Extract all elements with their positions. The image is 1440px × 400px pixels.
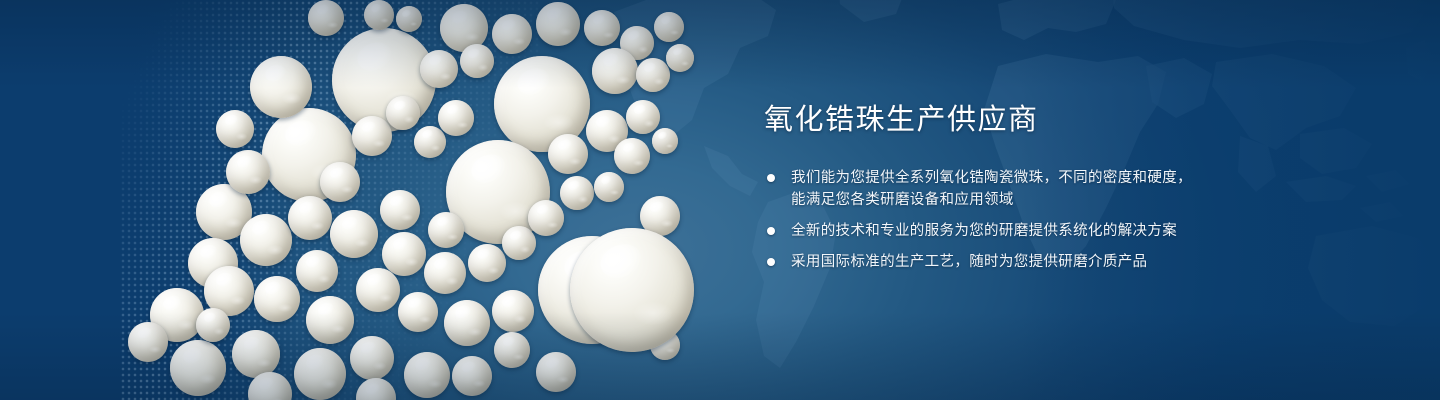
bullet-dot-icon — [767, 258, 775, 266]
feature-list-item-2: 全新的技术和专业的服务为您的研磨提供系统化的解决方案 — [764, 220, 1234, 242]
banner-headline: 氧化锆珠生产供应商 — [764, 104, 1234, 137]
feature-list-item-3: 采用国际标准的生产工艺，随时为您提供研磨介质产品 — [764, 251, 1234, 273]
feature-list: 我们能为您提供全系列氧化锆陶瓷微珠，不同的密度和硬度， 能满足您各类研磨设备和应… — [764, 167, 1234, 273]
feature-text-3: 采用国际标准的生产工艺，随时为您提供研磨介质产品 — [791, 254, 1147, 270]
banner-content: 氧化锆珠生产供应商 我们能为您提供全系列氧化锆陶瓷微珠，不同的密度和硬度， 能满… — [764, 104, 1234, 273]
feature-list-item-1: 我们能为您提供全系列氧化锆陶瓷微珠，不同的密度和硬度， 能满足您各类研磨设备和应… — [764, 167, 1234, 211]
bullet-dot-icon — [767, 174, 775, 182]
feature-text-1-line-1: 我们能为您提供全系列氧化锆陶瓷微珠，不同的密度和硬度， — [791, 170, 1192, 186]
feature-text-2: 全新的技术和专业的服务为您的研磨提供系统化的解决方案 — [791, 223, 1177, 239]
hero-banner: 氧化锆珠生产供应商 我们能为您提供全系列氧化锆陶瓷微珠，不同的密度和硬度， 能满… — [0, 0, 1440, 400]
feature-text-1-line-2: 能满足您各类研磨设备和应用领域 — [791, 189, 1234, 211]
bullet-dot-icon — [767, 227, 775, 235]
